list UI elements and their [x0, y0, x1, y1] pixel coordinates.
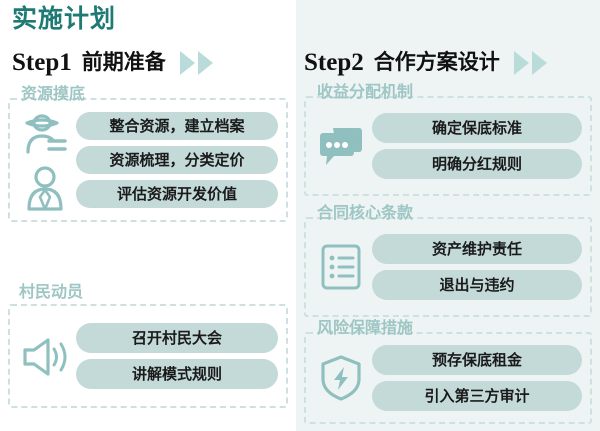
- list-item[interactable]: 评估资源开发价值: [76, 180, 278, 208]
- section-title: 资源摸底: [18, 86, 88, 102]
- section-title: 村民动员: [16, 284, 86, 300]
- list-item[interactable]: 整合资源，建立档案: [76, 112, 278, 140]
- step1-arrows: [180, 51, 213, 75]
- section-resource-survey: 资源摸底: [8, 86, 288, 222]
- step1-header: Step1 前期准备: [12, 50, 213, 75]
- chat-bubbles-icon: [317, 124, 365, 168]
- section-icons: [310, 242, 372, 292]
- section-villager-mobilization: 村民动员 召开村民大会 讲解模式规则: [8, 290, 288, 408]
- megaphone-icon: [20, 332, 70, 380]
- section-title: 收益分配机制: [314, 84, 416, 100]
- suit-person-icon: [25, 165, 65, 211]
- chevron-right-icon: [198, 51, 213, 75]
- section-items: 召开村民大会 讲解模式规则: [76, 323, 278, 389]
- step1-label-en: Step1: [12, 50, 72, 75]
- chevron-right-icon: [532, 51, 547, 75]
- list-item[interactable]: 确定保底标准: [372, 113, 582, 143]
- step1-label-cn: 前期准备: [82, 52, 166, 73]
- section-title: 风险保障措施: [314, 320, 416, 336]
- section-items: 预存保底租金 引入第三方审计: [372, 345, 582, 411]
- section-title: 合同核心条款: [314, 205, 416, 221]
- section-icons: [310, 353, 372, 403]
- section-icons: [14, 106, 76, 214]
- list-item[interactable]: 资产维护责任: [372, 234, 582, 264]
- shield-bolt-icon: [318, 353, 364, 403]
- step2-label-cn: 合作方案设计: [374, 52, 500, 73]
- list-item[interactable]: 预存保底租金: [372, 345, 582, 375]
- farmer-hat-person-icon: [22, 110, 68, 158]
- section-icons: [310, 124, 372, 168]
- section-risk-safeguards: 风险保障措施 预存保底租金 引入第三方审计: [304, 320, 592, 424]
- step1-panel: 实施计划 Step1 前期准备 资源摸底: [0, 0, 296, 431]
- list-item[interactable]: 讲解模式规则: [76, 359, 278, 389]
- chevron-right-icon: [514, 51, 529, 75]
- page-title: 实施计划: [12, 6, 116, 31]
- section-contract-terms: 合同核心条款: [304, 205, 592, 317]
- step2-label-en: Step2: [304, 50, 364, 75]
- section-icons: [14, 332, 76, 380]
- step2-header: Step2 合作方案设计: [304, 50, 547, 75]
- section-items: 确定保底标准 明确分红规则: [372, 113, 582, 179]
- chevron-right-icon: [180, 51, 195, 75]
- step2-panel: Step2 合作方案设计 收益分配机制: [296, 0, 600, 431]
- list-item[interactable]: 召开村民大会: [76, 323, 278, 353]
- section-items: 整合资源，建立档案 资源梳理，分类定价 评估资源开发价值: [76, 112, 278, 208]
- step2-arrows: [514, 51, 547, 75]
- checklist-document-icon: [319, 242, 363, 292]
- implementation-plan-diagram: 实施计划 Step1 前期准备 资源摸底: [0, 0, 600, 431]
- list-item[interactable]: 引入第三方审计: [372, 381, 582, 411]
- list-item[interactable]: 退出与违约: [372, 270, 582, 300]
- list-item[interactable]: 资源梳理，分类定价: [76, 146, 278, 174]
- section-profit-distribution: 收益分配机制 确定保底标准 明确: [304, 84, 592, 196]
- list-item[interactable]: 明确分红规则: [372, 149, 582, 179]
- section-items: 资产维护责任 退出与违约: [372, 234, 582, 300]
